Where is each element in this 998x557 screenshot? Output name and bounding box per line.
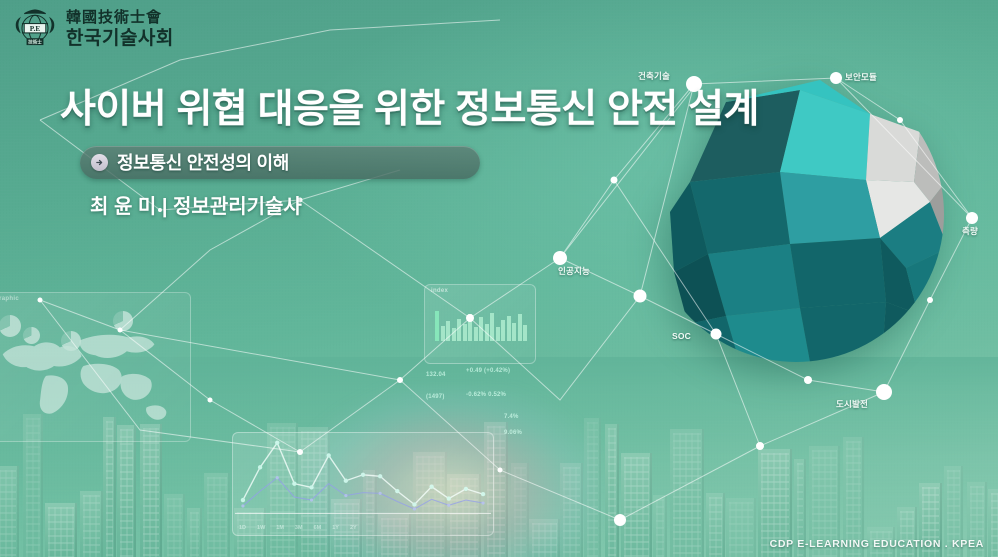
network-label-urban-development: 도시발전 (836, 398, 868, 410)
organization-name-hanja: 韓國技術士會 (66, 11, 174, 26)
chart-point (276, 476, 279, 479)
chart-point (241, 504, 244, 507)
organization-header: P.E 技術士 韓國技術士會 한국기술사회 (12, 6, 174, 52)
kpea-emblem-icon: P.E 技術士 (12, 6, 58, 52)
chart-point (361, 473, 365, 477)
chart-point (378, 474, 382, 478)
tick-6m: 6M (314, 525, 322, 531)
chart-point (327, 453, 331, 457)
readout-value-5: 7.4% (504, 414, 518, 420)
subtitle-pill: 정보통신 안전성의 이해 (80, 146, 480, 179)
network-label-soc: SOC (672, 331, 691, 341)
chart-point (292, 482, 296, 486)
chart-point (447, 496, 451, 500)
chart-point (464, 487, 468, 491)
chart-point (241, 498, 245, 502)
network-label-ai: 인공지능 (558, 265, 590, 277)
network-label-architecture: 건축기술 (638, 70, 670, 82)
svg-text:P.E: P.E (30, 25, 41, 33)
tick-2y: 2Y (350, 525, 357, 531)
readout-value-4: -0.62% 0.52% (466, 392, 506, 398)
readout-value-1: 132.04 (426, 372, 446, 378)
network-label-surveying: 측량 (962, 225, 978, 237)
slide-root: 건축기술 보안모듈 측량 인공지능 SOC 도시발전 Infographic i (0, 0, 998, 557)
line-chart-svg (233, 433, 493, 535)
chart-point (344, 494, 347, 497)
chart-point (379, 492, 382, 495)
tick-1y: 1Y (332, 525, 339, 531)
chart-point (310, 498, 313, 501)
chart-point (447, 504, 450, 507)
line-chart-infographic-panel: 1D 1W 1M 3M 6M 1Y 2Y (232, 432, 494, 536)
chart-point (481, 492, 485, 496)
tick-1d: 1D (239, 525, 246, 531)
readout-value-3: (1497) (426, 394, 445, 400)
organization-name-korean: 한국기술사회 (66, 29, 174, 48)
subtitle-label: 정보통신 안전성의 이해 (117, 149, 289, 175)
chart-point (429, 485, 433, 489)
footer-branding: CDP E-LEARNING EDUCATION . KPEA (770, 538, 984, 550)
chart-point (395, 489, 399, 493)
presenter-name: 최 윤 미 | 정보관리기술사 (90, 190, 759, 219)
chart-point (412, 502, 416, 506)
chart-point (275, 441, 279, 445)
chart-point (413, 507, 416, 510)
tick-1w: 1W (257, 525, 265, 531)
chart-point (258, 465, 262, 469)
tick-1m: 1M (276, 525, 284, 531)
readout-value-6: 9.06% (504, 430, 522, 436)
readout-value-2: +0.49 (+0.42%) (466, 368, 510, 374)
chart-line-series-b (243, 478, 483, 509)
network-constellation (0, 0, 998, 557)
tick-3m: 3M (295, 525, 303, 531)
page-title: 사이버 위협 대응을 위한 정보통신 안전 설계 (60, 88, 759, 132)
circle-arrow-right-icon (91, 154, 108, 171)
title-block: 사이버 위협 대응을 위한 정보통신 안전 설계 정보통신 안전성의 이해 최 … (60, 88, 759, 219)
chart-point (344, 479, 348, 483)
network-label-security-module: 보안모듈 (845, 71, 877, 83)
chart-point (309, 485, 313, 489)
chart-point (481, 501, 484, 504)
line-chart-tick-row: 1D 1W 1M 3M 6M 1Y 2Y (239, 525, 357, 531)
svg-text:技術士: 技術士 (28, 39, 42, 46)
